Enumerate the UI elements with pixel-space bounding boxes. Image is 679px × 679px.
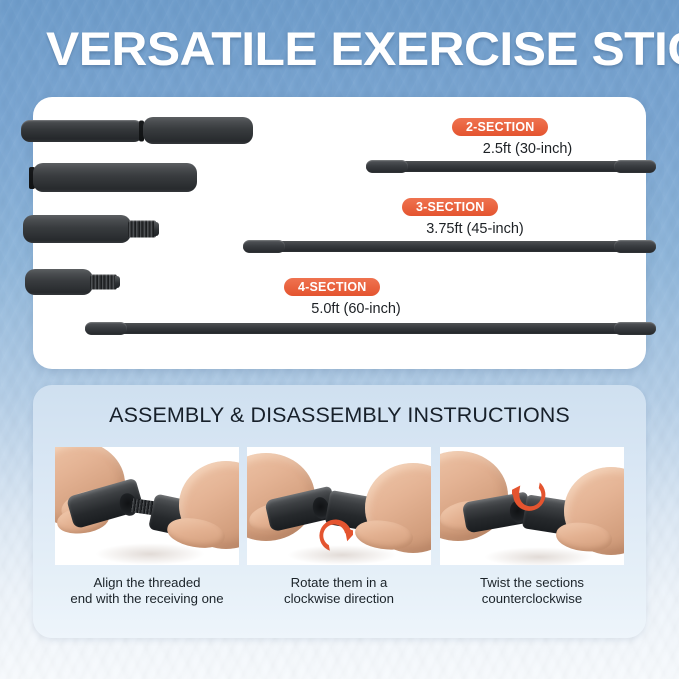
instruction-photo-1 [55,447,239,565]
product-segment-3 [23,215,171,243]
segment-thread-tip [115,276,120,288]
caption-line-2: end with the receiving one [55,591,239,607]
product-card: 2-SECTION 2.5ft (30-inch) 3-SECTION 3.75… [33,97,646,369]
segment-grip [143,117,253,144]
variant-size-3-section: 3.75ft (45-inch) [395,221,555,237]
photo-shadow [484,547,594,565]
caption-line-2: clockwise direction [247,591,431,607]
segment-grip [23,215,131,243]
segment-grip [33,163,197,192]
caption-line-1: Rotate them in a [247,575,431,591]
caption-line-2: counterclockwise [440,591,624,607]
stick-shaft [243,241,656,252]
instruction-caption-1: Align the threaded end with the receivin… [55,575,239,607]
photo-shadow [95,543,205,565]
photo-shadow [287,545,397,565]
caption-line-1: Twist the sections [440,575,624,591]
product-segment-4 [25,269,135,295]
variant-badge-4-section: 4-SECTION [284,278,380,296]
variant-badge-2-section: 2-SECTION [452,118,548,136]
stick-grip-left [366,160,408,173]
stick-shaft [85,323,656,334]
assembled-stick-2-section [366,160,656,173]
instruction-caption-3: Twist the sections counterclockwise [440,575,624,607]
instruction-photo-row [55,447,624,565]
stick-grip-right [614,322,656,335]
instruction-caption-2: Rotate them in a clockwise direction [247,575,431,607]
infographic-root: VERSATILE EXERCISE STICK 2-SECTION 2.5 [0,0,679,679]
product-segment-2 [25,163,197,192]
segment-shaft [21,120,143,142]
rotate-counterclockwise-arrow [512,473,556,517]
page-title: VERSATILE EXERCISE STICK [46,21,679,77]
stick-shaft [366,161,656,172]
segment-grip [25,269,93,295]
segment-threaded-end [90,275,117,290]
assembled-stick-3-section [243,240,656,253]
stick-grip-right [614,160,656,173]
product-segment-1 [21,117,253,144]
segment-threaded-end [128,221,156,238]
segment-thread-tip [154,222,159,236]
caption-line-1: Align the threaded [55,575,239,591]
instructions-panel: ASSEMBLY & DISASSEMBLY INSTRUCTIONS [33,385,646,638]
variant-badge-3-section: 3-SECTION [402,198,498,216]
variant-size-4-section: 5.0ft (60-inch) [276,301,436,317]
variant-size-2-section: 2.5ft (30-inch) [450,141,605,157]
stick-grip-left [85,322,127,335]
instruction-photo-3 [440,447,624,565]
assembled-stick-4-section [85,322,656,335]
instructions-title: ASSEMBLY & DISASSEMBLY INSTRUCTIONS [33,403,646,428]
stick-grip-right [614,240,656,253]
stick-grip-left [243,240,285,253]
instruction-photo-2 [247,447,431,565]
